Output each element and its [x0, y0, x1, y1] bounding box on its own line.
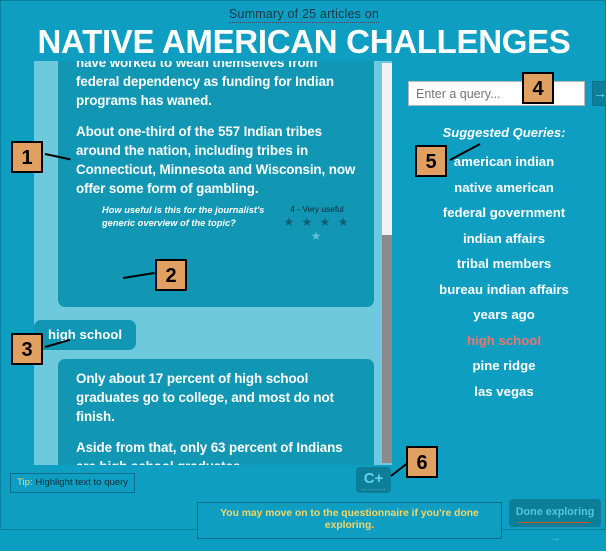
callout-6: 6: [406, 446, 438, 478]
refresh-plus-icon: C+: [364, 470, 384, 487]
done-exploring-button[interactable]: Done exploring →: [509, 499, 601, 527]
suggested-query-item[interactable]: native american: [401, 175, 606, 201]
card-paragraph: have worked to wean themselves from fede…: [76, 61, 356, 110]
dotted-underline: [519, 522, 589, 523]
query-panel: → Suggested Queries: american indian nat…: [401, 61, 606, 465]
star-rating[interactable]: ★ ★ ★ ★ ★: [278, 215, 356, 243]
card-paragraph: Only about 17 percent of high school gra…: [76, 369, 356, 426]
search-input[interactable]: [408, 81, 585, 106]
header-subtitle: Summary of 25 articles on: [1, 7, 606, 21]
callout-4: 4: [522, 72, 554, 104]
refresh-summary-button[interactable]: C+: [356, 467, 391, 493]
suggested-query-item[interactable]: bureau indian affairs: [401, 277, 606, 303]
summary-panel: have worked to wean themselves from fede…: [34, 61, 392, 465]
summary-card[interactable]: Only about 17 percent of high school gra…: [58, 359, 374, 465]
move-on-notice: You may move on to the questionnaire if …: [197, 502, 502, 539]
card-paragraph: Aside from that, only 63 percent of Indi…: [76, 438, 356, 465]
callout-2: 2: [155, 259, 187, 291]
suggested-queries-list: american indian native american federal …: [401, 149, 606, 404]
callout-5: 5: [415, 145, 447, 177]
callout-3: 3: [11, 333, 43, 365]
page-header: Summary of 25 articles on NATIVE AMERICA…: [1, 1, 606, 63]
dotted-underline: [362, 489, 385, 490]
app-root: Summary of 25 articles on NATIVE AMERICA…: [0, 0, 606, 530]
callout-1: 1: [11, 141, 43, 173]
suggested-query-item[interactable]: las vegas: [401, 379, 606, 405]
suggested-query-item[interactable]: indian affairs: [401, 226, 606, 252]
rating-question: How useful is this for the journalist's …: [102, 204, 266, 229]
scrollbar-thumb[interactable]: [382, 63, 392, 235]
vertical-scrollbar[interactable]: [382, 63, 392, 463]
tip-prefix: Tip:: [17, 477, 35, 488]
suggested-query-item[interactable]: pine ridge: [401, 353, 606, 379]
suggested-query-item[interactable]: federal government: [401, 200, 606, 226]
card-paragraph: About one-third of the 557 Indian tribes…: [76, 122, 356, 198]
tip-highlight-text: Tip: Highlight text to query: [10, 473, 135, 493]
rating-label: 4 - Very useful: [278, 204, 356, 215]
page-title: NATIVE AMERICAN CHALLENGES: [1, 23, 606, 61]
suggested-query-item-used[interactable]: high school: [401, 328, 606, 354]
suggested-queries-title: Suggested Queries:: [401, 125, 606, 140]
card-rating-row: How useful is this for the journalist's …: [76, 204, 356, 243]
summary-card[interactable]: have worked to wean themselves from fede…: [58, 61, 374, 307]
rating-stars-wrap: 4 - Very useful ★ ★ ★ ★ ★: [278, 204, 356, 243]
query-bar: →: [408, 81, 600, 106]
done-exploring-label: Done exploring →: [516, 506, 595, 544]
star-icon[interactable]: ★: [311, 229, 324, 243]
submit-query-button[interactable]: →: [592, 81, 606, 106]
suggested-query-item[interactable]: tribal members: [401, 251, 606, 277]
suggested-query-item[interactable]: years ago: [401, 302, 606, 328]
tip-text: Highlight text to query: [35, 477, 128, 488]
summary-cards-area: have worked to wean themselves from fede…: [34, 61, 374, 465]
